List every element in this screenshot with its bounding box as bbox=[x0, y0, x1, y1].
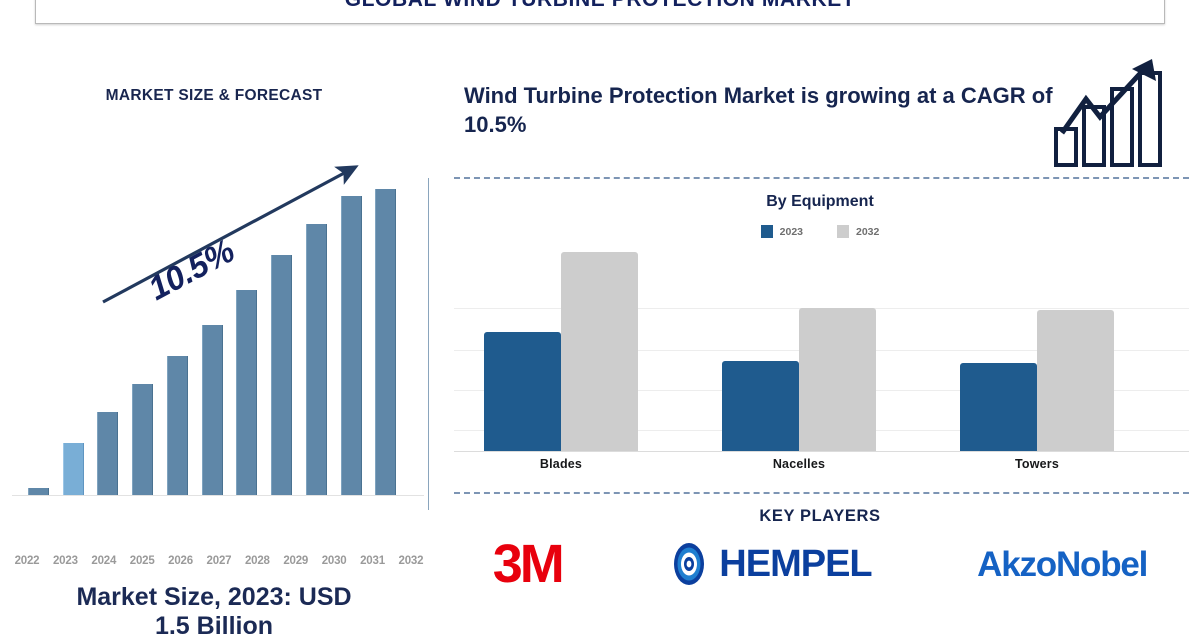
bar-chart-growth-icon bbox=[1052, 59, 1172, 169]
key-players-title: KEY PLAYERS bbox=[440, 507, 1200, 526]
logo-hempel[interactable]: HEMPEL bbox=[667, 542, 871, 586]
market-size-bar-2024 bbox=[97, 412, 118, 495]
bar-nacelles-2032 bbox=[799, 308, 876, 451]
market-size-bar-2032 bbox=[375, 189, 396, 495]
hempel-circle-icon bbox=[667, 542, 711, 586]
equipment-chart-legend: 2023 2032 bbox=[440, 225, 1200, 238]
year-tick: 2026 bbox=[164, 555, 198, 567]
legend-item-2032[interactable]: 2032 bbox=[837, 225, 879, 238]
separator-bottom bbox=[454, 492, 1189, 494]
page-title: GLOBAL WIND TURBINE PROTECTION MARKET bbox=[36, 0, 1164, 12]
legend-label-2032: 2032 bbox=[856, 226, 879, 238]
bar-group-towers bbox=[960, 250, 1114, 451]
panel-divider bbox=[428, 178, 429, 510]
key-players-logos: 3M HEMPEL AkzoNobel bbox=[440, 537, 1200, 591]
market-size-bar-2029 bbox=[271, 255, 292, 495]
logo-hempel-text: HEMPEL bbox=[719, 545, 871, 583]
bar-group-blades bbox=[484, 250, 638, 451]
year-tick: 2028 bbox=[240, 555, 274, 567]
separator-top bbox=[454, 177, 1189, 179]
market-size-callout: Market Size, 2023: USD 1.5 Billion bbox=[0, 583, 428, 642]
bar-towers-2023 bbox=[960, 363, 1037, 451]
year-tick: 2025 bbox=[125, 555, 159, 567]
category-label-blades: Blades bbox=[484, 457, 638, 471]
bar-towers-2032 bbox=[1037, 310, 1114, 451]
year-tick: 2023 bbox=[48, 555, 82, 567]
market-size-bar-2026 bbox=[167, 356, 188, 495]
bar-nacelles-2023 bbox=[722, 361, 799, 451]
category-label-towers: Towers bbox=[960, 457, 1114, 471]
logo-akzonobel[interactable]: AkzoNobel bbox=[977, 547, 1147, 582]
legend-label-2023: 2023 bbox=[780, 226, 803, 238]
market-size-bar-2028 bbox=[236, 290, 257, 495]
title-banner: GLOBAL WIND TURBINE PROTECTION MARKET bbox=[35, 0, 1165, 24]
year-tick: 2032 bbox=[394, 555, 428, 567]
market-size-line-1: Market Size, 2023: USD bbox=[0, 583, 428, 612]
year-tick: 2022 bbox=[10, 555, 44, 567]
market-size-bar-2027 bbox=[202, 325, 223, 495]
bar-group-nacelles bbox=[722, 250, 876, 451]
legend-swatch-2032 bbox=[837, 225, 849, 238]
year-tick: 2030 bbox=[317, 555, 351, 567]
left-panel-heading: MARKET SIZE & FORECAST bbox=[0, 87, 428, 105]
category-label-nacelles: Nacelles bbox=[722, 457, 876, 471]
bar-blades-2023 bbox=[484, 332, 561, 451]
market-size-bar-2031 bbox=[341, 196, 362, 495]
equipment-bar-chart: BladesNacellesTowers bbox=[454, 250, 1189, 452]
cagr-statement: Wind Turbine Protection Market is growin… bbox=[464, 81, 1054, 140]
market-size-forecast-chart bbox=[18, 165, 418, 495]
market-size-forecast-panel: MARKET SIZE & FORECAST 10.5% 2022 2023 2… bbox=[0, 55, 428, 600]
market-size-bar-2022 bbox=[28, 488, 49, 495]
legend-item-2023[interactable]: 2023 bbox=[761, 225, 803, 238]
market-size-bar-2030 bbox=[306, 224, 327, 495]
left-chart-year-axis: 2022 2023 2024 2025 2026 2027 2028 2029 … bbox=[10, 555, 428, 567]
market-size-bar-2023 bbox=[63, 443, 84, 495]
market-size-bar-2025 bbox=[132, 384, 153, 495]
year-tick: 2031 bbox=[356, 555, 390, 567]
year-tick: 2029 bbox=[279, 555, 313, 567]
equipment-panel: Wind Turbine Protection Market is growin… bbox=[440, 55, 1200, 600]
logo-3m[interactable]: 3M bbox=[493, 537, 562, 591]
market-size-line-2: 1.5 Billion bbox=[0, 612, 428, 641]
legend-swatch-2023 bbox=[761, 225, 773, 238]
equipment-chart-title: By Equipment bbox=[440, 193, 1200, 211]
left-chart-baseline bbox=[12, 495, 424, 496]
bar-blades-2032 bbox=[561, 252, 638, 451]
equipment-chart-baseline bbox=[454, 451, 1189, 452]
year-tick: 2027 bbox=[202, 555, 236, 567]
year-tick: 2024 bbox=[87, 555, 121, 567]
